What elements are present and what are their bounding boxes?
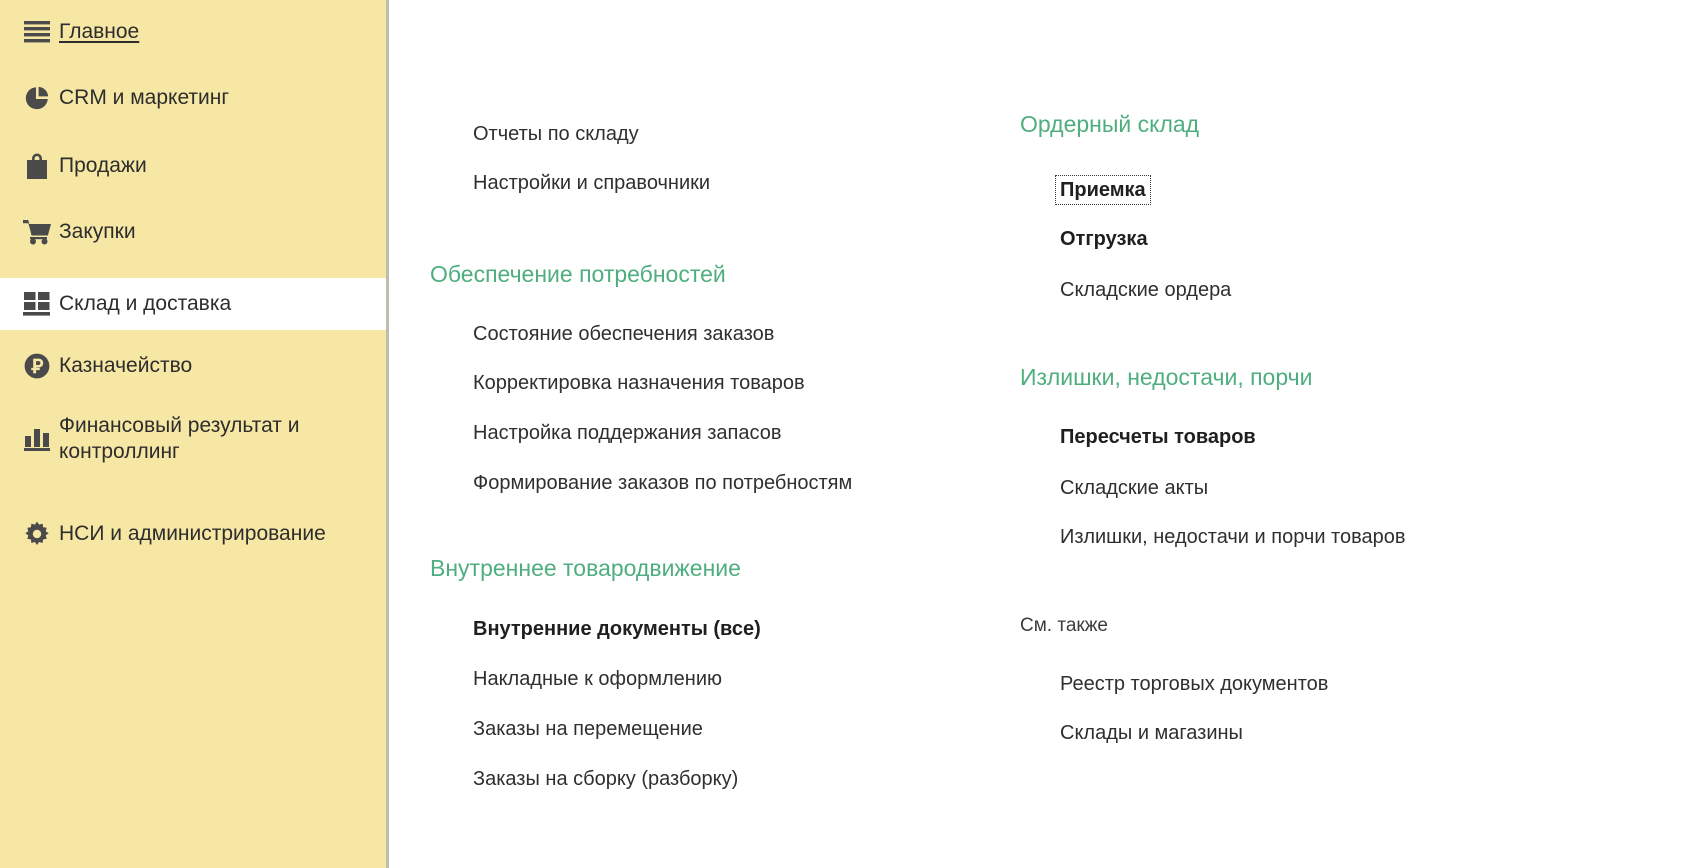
command-link-sklady-i-magaziny[interactable]: Склады и магазины — [1060, 723, 1243, 743]
sidebar-item-label: Склад и доставка — [59, 291, 243, 317]
sidebar-item-sklad-i-dostavka[interactable]: Склад и доставка — [0, 278, 386, 330]
sidebar-item-finansoviy-rezultat[interactable]: Финансовый результат и контроллинг — [0, 405, 386, 473]
sidebar-navigation: Главное CRM и маркетинг Продажи — [0, 0, 389, 868]
command-link-nakladnye-k-oformleniyu[interactable]: Накладные к оформлению — [473, 669, 722, 689]
command-link-pereschety-tovarov[interactable]: Пересчеты товаров — [1060, 427, 1256, 447]
sidebar-item-label: CRM и маркетинг — [59, 85, 241, 111]
command-link-skladskie-ordera[interactable]: Складские ордера — [1060, 280, 1231, 300]
group-heading-vnutrennee-tovarodvizhenie: Внутреннее товародвижение — [430, 557, 741, 580]
shopping-bag-icon — [15, 151, 59, 181]
main-content-panel: Отчеты по складу Настройки и справочники… — [392, 0, 1696, 868]
sidebar-item-label: Финансовый результат и контроллинг — [59, 413, 386, 464]
command-link-skladskie-akty[interactable]: Складские акты — [1060, 478, 1208, 498]
shopping-cart-icon — [15, 218, 59, 246]
group-heading-sm-takzhe: См. также — [1020, 616, 1108, 635]
sidebar-item-label: НСИ и администрирование — [59, 521, 338, 547]
sidebar-item-label: Казначейство — [59, 353, 204, 379]
command-link-sostoyanie-obespecheniya-zakazov[interactable]: Состояние обеспечения заказов — [473, 324, 774, 344]
command-link-reestr-torgovykh-dokumentov[interactable]: Реестр торговых документов — [1060, 674, 1328, 694]
command-link-formirovanie-zakazov-po-potrebnostyam[interactable]: Формирование заказов по потребностям — [473, 473, 852, 493]
ruble-coin-icon — [15, 352, 59, 380]
gear-icon — [15, 520, 59, 548]
command-link-nastroyki-i-spravochniki[interactable]: Настройки и справочники — [473, 173, 710, 193]
group-heading-obespechenie-potrebnostey: Обеспечение потребностей — [430, 263, 726, 286]
bar-chart-icon — [15, 426, 59, 452]
command-link-vnutrennie-dokumenty-vse[interactable]: Внутренние документы (все) — [473, 619, 761, 639]
warehouse-grid-icon — [15, 290, 59, 318]
command-link-nastroyka-podderzhaniya-zapasov[interactable]: Настройка поддержания запасов — [473, 423, 781, 443]
sidebar-item-nsi-i-administrirovanie[interactable]: НСИ и администрирование — [0, 500, 386, 568]
group-heading-ordernyy-sklad: Ордерный склад — [1020, 113, 1199, 136]
sidebar-item-kaznacheystvo[interactable]: Казначейство — [0, 342, 386, 390]
command-link-izlishki-nedostachi-i-porchi-tovarov[interactable]: Излишки, недостачи и порчи товаров — [1060, 527, 1406, 547]
command-link-korrektirovka-naznacheniya-tovarov[interactable]: Корректировка назначения товаров — [473, 373, 805, 393]
command-link-zakazy-na-peremeshchenie[interactable]: Заказы на перемещение — [473, 719, 703, 739]
sidebar-item-glavnoe[interactable]: Главное — [0, 8, 386, 56]
sidebar-item-prodazhi[interactable]: Продажи — [0, 142, 386, 190]
pie-chart-icon — [15, 84, 59, 112]
hamburger-menu-icon — [15, 20, 59, 44]
sidebar-item-zakupki[interactable]: Закупки — [0, 208, 386, 256]
command-link-otchety-po-skladu[interactable]: Отчеты по складу — [473, 124, 639, 144]
command-link-otgruzka[interactable]: Отгрузка — [1060, 229, 1148, 249]
group-heading-izlishki-nedostachi-porchi: Излишки, недостачи, порчи — [1020, 366, 1312, 389]
command-link-priemka[interactable]: Приемка — [1060, 180, 1146, 200]
sidebar-item-label: Главное — [59, 19, 151, 45]
command-link-zakazy-na-sborku-razborku[interactable]: Заказы на сборку (разборку) — [473, 769, 738, 789]
sidebar-item-crm-i-marketing[interactable]: CRM и маркетинг — [0, 74, 386, 122]
sidebar-item-label: Закупки — [59, 219, 148, 245]
sidebar-item-label: Продажи — [59, 153, 159, 179]
